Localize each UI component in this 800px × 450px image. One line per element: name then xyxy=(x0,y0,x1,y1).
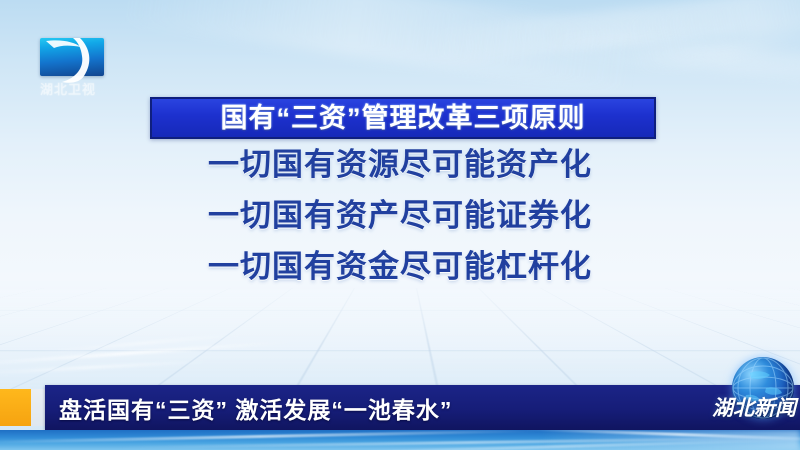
wave-glow xyxy=(540,430,800,450)
ticker-headline-text: 盘活国有“三资” 激活发展“一池春水” xyxy=(59,391,452,425)
accent-tab xyxy=(0,389,31,426)
broadcast-stage-background: 湖北卫视 国有“三资”管理改革三项原则 一切国有资源尽可能资产化 一切国有资产尽… xyxy=(0,0,800,450)
channel-logo: 湖北卫视 xyxy=(40,38,108,98)
bottom-wave-strip xyxy=(0,430,800,450)
principle-line-3: 一切国有资金尽可能杠杆化 xyxy=(208,250,592,284)
headline-banner: 国有“三资”管理改革三项原则 xyxy=(150,97,656,139)
accent-tab-gap xyxy=(31,389,45,426)
hubei-tv-river-logo-icon xyxy=(40,38,104,76)
principle-list: 一切国有资源尽可能资产化 一切国有资产尽可能证券化 一切国有资金尽可能杠杆化 xyxy=(0,148,800,284)
program-brand-block: 湖北新闻 xyxy=(688,357,800,430)
headline-banner-text: 国有“三资”管理改革三项原则 xyxy=(221,105,586,132)
program-brand-name: 湖北新闻 xyxy=(712,392,796,422)
lower-third-ticker: 盘活国有“三资” 激活发展“一池春水” xyxy=(45,385,800,430)
principle-line-1: 一切国有资源尽可能资产化 xyxy=(208,148,592,182)
principle-line-2: 一切国有资产尽可能证券化 xyxy=(208,199,592,233)
